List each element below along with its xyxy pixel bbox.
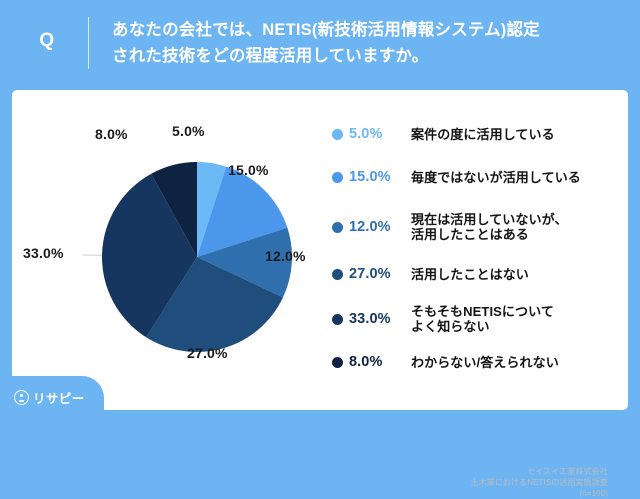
- legend-label: 活用したことはない: [411, 267, 529, 282]
- question-header: Q あなたの会社では、NETIS(新技術活用情報システム)認定 された技術をどの…: [0, 0, 640, 90]
- legend-item-4[interactable]: 27.0%活用したことはない: [332, 266, 529, 282]
- magnifier-pin-icon: [14, 390, 29, 405]
- pie-value-label-15: 15.0%: [228, 162, 269, 178]
- logo-tab[interactable]: リサピー: [0, 376, 104, 426]
- question-line-2: された技術をどの程度活用していますか。: [112, 43, 620, 69]
- legend-color-dot: [332, 172, 343, 183]
- legend-item-1[interactable]: 5.0%案件の度に活用している: [332, 126, 555, 142]
- legend-percentage: 12.0%: [349, 219, 411, 235]
- legend-item-5[interactable]: 33.0%そもそもNETISについて よく知らない: [332, 304, 554, 334]
- legend-percentage: 33.0%: [349, 311, 411, 327]
- attribution: セイスイ工業株式会社 土木業におけるNETISの活用実態調査 (n=100): [288, 466, 608, 499]
- legend-percentage: 15.0%: [349, 169, 411, 185]
- attribution-survey: 土木業におけるNETISの活用実態調査: [288, 477, 608, 488]
- legend-label: 現在は活用していないが、 活用したことはある: [411, 212, 568, 242]
- pie-value-label-5: 5.0%: [172, 123, 205, 139]
- legend-color-dot: [332, 314, 343, 325]
- legend-item-2[interactable]: 15.0%毎度ではないが活用している: [332, 169, 581, 185]
- attribution-sample-size: (n=100): [288, 488, 608, 499]
- legend-color-dot: [332, 357, 343, 368]
- pie-slices: [102, 162, 292, 352]
- pie-chart: 5.0% 15.0% 12.0% 27.0% 33.0% 8.0%: [12, 90, 342, 410]
- pie-value-label-33: 33.0%: [23, 245, 64, 261]
- legend-label: 毎度ではないが活用している: [411, 170, 581, 185]
- pie-value-label-8: 8.0%: [95, 126, 128, 142]
- content-card: 5.0% 15.0% 12.0% 27.0% 33.0% 8.0% 5.0%案件…: [12, 90, 628, 410]
- question-title: あなたの会社では、NETIS(新技術活用情報システム)認定 された技術をどの程度…: [112, 17, 620, 69]
- legend-color-dot: [332, 269, 343, 280]
- legend-percentage: 5.0%: [349, 126, 411, 142]
- header-divider: [88, 17, 89, 69]
- pie-value-label-27: 27.0%: [187, 345, 228, 361]
- attribution-company: セイスイ工業株式会社: [288, 466, 608, 477]
- pie-value-label-12: 12.0%: [265, 248, 306, 264]
- legend-color-dot: [332, 129, 343, 140]
- legend-color-dot: [332, 222, 343, 233]
- question-badge: Q: [27, 30, 67, 52]
- slide-root: Q あなたの会社では、NETIS(新技術活用情報システム)認定 された技術をどの…: [0, 0, 640, 426]
- legend-percentage: 8.0%: [349, 354, 411, 370]
- legend-item-6[interactable]: 8.0%わからない/答えられない: [332, 354, 559, 370]
- legend-item-3[interactable]: 12.0%現在は活用していないが、 活用したことはある: [332, 212, 568, 242]
- legend-label: そもそもNETISについて よく知らない: [411, 304, 554, 334]
- legend-label: 案件の度に活用している: [411, 127, 555, 142]
- logo-label: リサピー: [33, 388, 85, 407]
- legend-label: わからない/答えられない: [411, 355, 559, 370]
- question-line-1: あなたの会社では、NETIS(新技術活用情報システム)認定: [112, 17, 620, 43]
- legend-percentage: 27.0%: [349, 266, 411, 282]
- logo: リサピー: [14, 388, 85, 407]
